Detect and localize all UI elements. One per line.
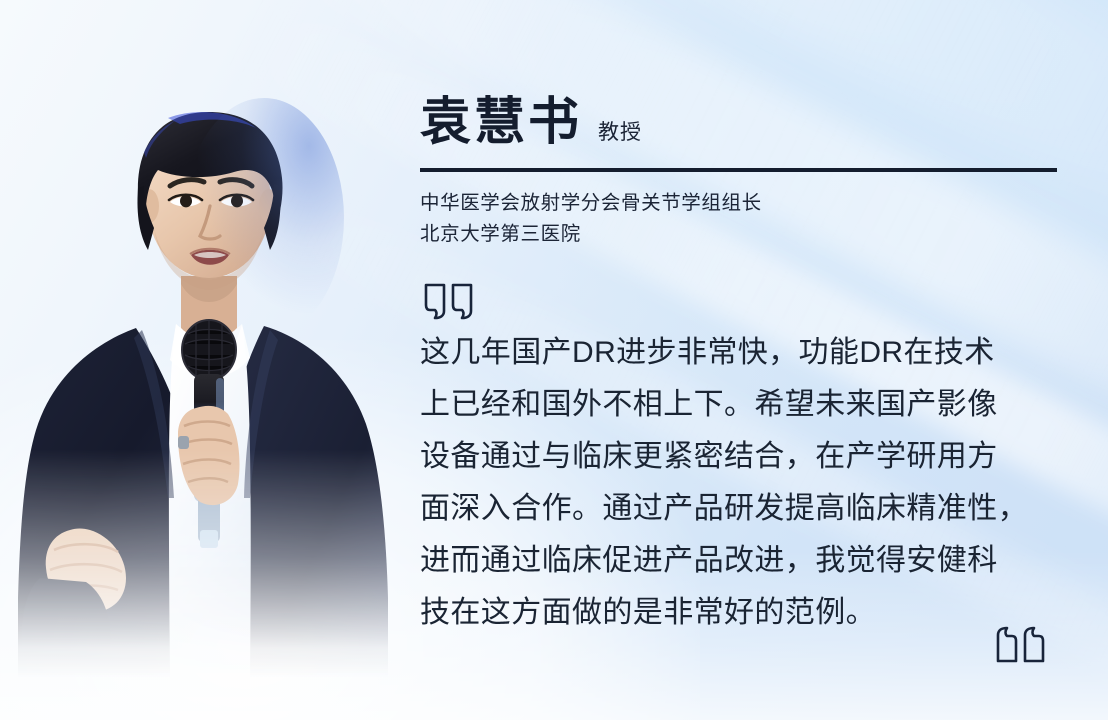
quote-line: 上已经和国外不相上下。希望未来国产影像 [420, 379, 1068, 431]
affiliation-line: 中华医学会放射学分会骨关节学组组长 [420, 188, 1060, 219]
quote-line: 技在这方面做的是非常好的范例。 [420, 587, 1068, 639]
header-divider [420, 168, 1057, 172]
speaker-portrait [18, 78, 398, 678]
quote-line: 这几年国产DR进步非常快，功能DR在技术 [420, 327, 1068, 379]
quote-text: 这几年国产DR进步非常快，功能DR在技术 上已经和国外不相上下。希望未来国产影像… [420, 327, 1068, 639]
affiliation-line: 北京大学第三医院 [420, 219, 1060, 250]
close-quote-icon [995, 625, 1051, 665]
quote-line: 设备通过与临床更紧密结合，在产学研用方 [420, 431, 1068, 483]
speaker-title-suffix: 教授 [598, 122, 642, 143]
speaker-affiliations: 中华医学会放射学分会骨关节学组组长 北京大学第三医院 [420, 188, 1060, 250]
speaker-name-row: 袁慧书 教授 [420, 96, 642, 147]
speaker-content: 袁慧书 教授 中华医学会放射学分会骨关节学组组长 北京大学第三医院 这几年国产D… [420, 0, 1068, 720]
speaker-name: 袁慧书 [420, 96, 582, 147]
speaker-quote-card: 袁慧书 教授 中华医学会放射学分会骨关节学组组长 北京大学第三医院 这几年国产D… [0, 0, 1108, 720]
quote-line: 面深入合作。通过产品研发提高临床精准性， [420, 483, 1068, 535]
open-quote-icon [423, 281, 479, 321]
quote-line: 进而通过临床促进产品改进，我觉得安健科 [420, 535, 1068, 587]
